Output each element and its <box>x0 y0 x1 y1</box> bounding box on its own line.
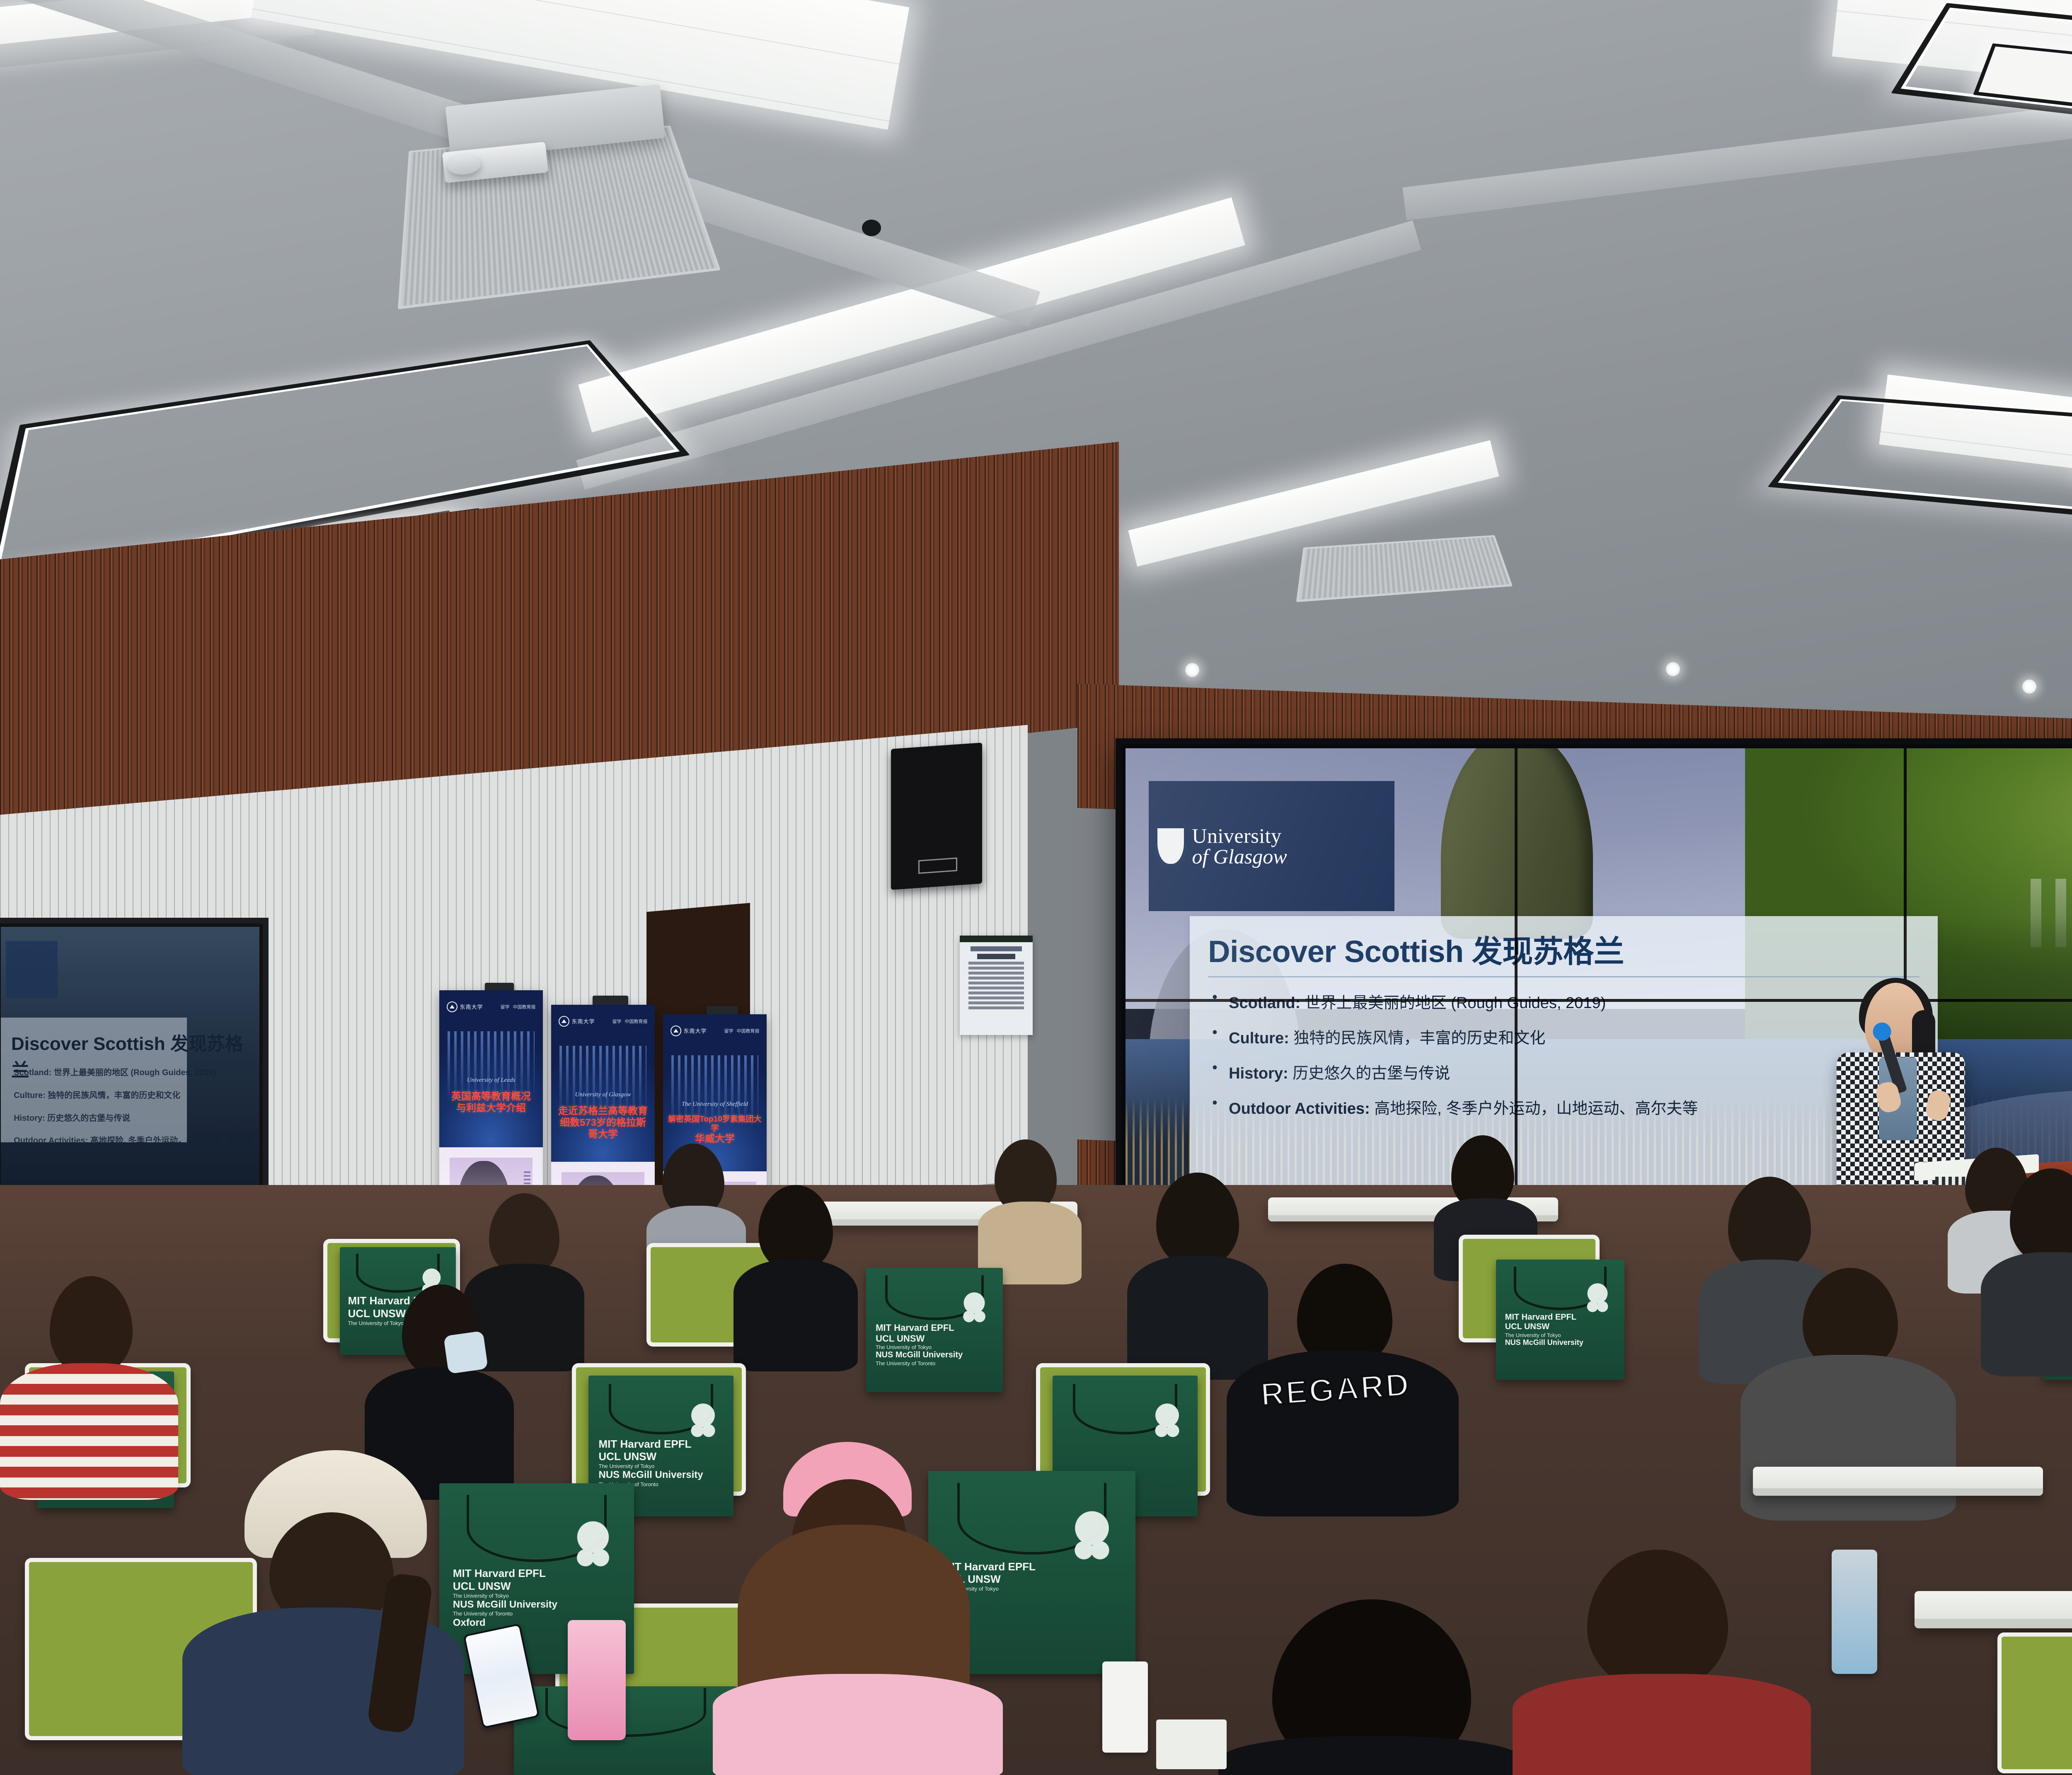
slide-title: Discover Scottish 发现苏格兰 <box>1208 927 1920 977</box>
tote-line: MIT Harvard EPFL <box>1505 1313 1583 1323</box>
water-bottle <box>568 1620 626 1740</box>
lecture-hall-photo: Discover Scottish 发现苏格兰 Scotland: 世界上最美丽… <box>0 0 2072 1775</box>
banner-partner: 中国教育报 <box>513 1004 536 1010</box>
tote-line: UCL UNSW <box>876 1333 963 1344</box>
university-mark-icon <box>559 1016 569 1027</box>
left-wall-monitor[interactable]: Discover Scottish 发现苏格兰 Scotland: 世界上最美丽… <box>0 918 269 1219</box>
slide-bullet-label: Outdoor Activities: <box>1229 1100 1370 1117</box>
tote-line: The University of Toronto <box>876 1360 963 1366</box>
banner-partner: 留学 <box>501 1004 510 1010</box>
banner-partner: 中国教育报 <box>625 1018 648 1025</box>
tote-line: The University of Tokyo <box>1505 1332 1583 1338</box>
study-abroad-tote-bag: MIT Harvard EPFL UCL UNSW The University… <box>866 1268 1003 1392</box>
wall-notice-board <box>960 936 1033 1035</box>
slide-bullet-list: Scotland: 世界上最美丽的地区 (Rough Guides, 2019)… <box>1208 990 1920 1118</box>
tote-line: UCL UNSW <box>599 1450 703 1463</box>
side-monitor-bullet: Scotland: 世界上最美丽的地区 (Rough Guides, 2019) <box>14 1066 216 1078</box>
study-abroad-tote-bag: MIT Harvard EPFL UCL UNSW The University… <box>1496 1260 1624 1380</box>
tote-line: NUS McGill University <box>1505 1338 1583 1347</box>
side-monitor-bullet: Culture: 独特的民族风情，丰富的历史和文化 <box>14 1088 180 1100</box>
banner-english-title: The University of Sheffield <box>663 1101 767 1108</box>
slide-bullet-item: History: 历史悠久的古堡与传说 <box>1208 1060 1920 1083</box>
lion-logo-icon <box>568 1518 618 1582</box>
banner-headline-1: 解密英国Top10罗素集团大学 <box>667 1115 762 1134</box>
slide-bullet-text: 历史悠久的古堡与传说 <box>1293 1065 1450 1082</box>
side-monitor-logo <box>6 941 58 998</box>
tote-line: The University of Tokyo <box>453 1593 557 1599</box>
banner-university: 东南大学 <box>684 1027 707 1035</box>
desk <box>1753 1467 2043 1496</box>
banner-partner: 留学 <box>724 1028 733 1034</box>
tissue-pack <box>1102 1661 1148 1753</box>
tote-line: MIT Harvard EPFL <box>876 1323 963 1333</box>
slide-bullet-label: Scotland: <box>1229 994 1300 1012</box>
audience-person <box>0 1276 178 1492</box>
tote-line: MIT Harvard EPFL <box>453 1567 557 1580</box>
tote-line: UCL UNSW <box>453 1580 557 1593</box>
slide-bullet-label: Culture: <box>1229 1030 1289 1047</box>
notice-board-heading <box>977 954 1015 959</box>
seating-area: MIT Harvard EPFL UCL UNSW The University… <box>0 1185 2072 1775</box>
water-bottle <box>1832 1550 1877 1674</box>
banner-headline-1: 英国高等教育概况 <box>443 1091 539 1103</box>
audience-person <box>182 1450 464 1773</box>
tote-line: NUS McGill University <box>599 1469 703 1481</box>
banner-partner: 中国教育报 <box>737 1028 760 1034</box>
banner-university: 东南大学 <box>572 1017 595 1025</box>
audience-person <box>688 1442 995 1773</box>
slide-bullet-label: History: <box>1229 1065 1288 1082</box>
lion-logo-icon <box>1581 1281 1615 1322</box>
banner-partner: 留学 <box>612 1018 622 1025</box>
slide-bullet-item: Outdoor Activities: 高地探险, 冬季户外运动，山地运动、高尔… <box>1208 1095 1920 1118</box>
wall-speaker <box>891 742 982 890</box>
audience-person <box>1513 1550 1811 1775</box>
audience-person <box>1218 1599 1525 1775</box>
banner-headline-2: 与利兹大学介绍 <box>443 1103 539 1114</box>
side-monitor-bullet: History: 历史悠久的古堡与传说 <box>14 1111 130 1123</box>
slide-bullet-text: 世界上最美丽的地区 (Rough Guides, 2019) <box>1305 994 1606 1012</box>
face-mask <box>443 1331 488 1374</box>
banner-headline-2: 细数573岁的格拉斯哥大学 <box>555 1117 651 1141</box>
lecture-chair[interactable] <box>1997 1632 2072 1773</box>
audience-person: REGARD <box>1227 1264 1459 1512</box>
audience-person <box>978 1139 1082 1276</box>
tote-line: NUS McGill University <box>453 1599 557 1611</box>
university-mark-icon <box>670 1025 681 1036</box>
tote-line: NUS McGill University <box>876 1350 963 1360</box>
tote-line: The University of Toronto <box>453 1611 557 1617</box>
university-of-glasgow-logo: University of Glasgow <box>1149 781 1394 912</box>
slide-bullet-text: 高地探险, 冬季户外运动，山地运动、高尔夫等 <box>1374 1100 1698 1117</box>
audience-person <box>733 1185 858 1359</box>
banner-english-title: University of Glasgow <box>551 1091 655 1098</box>
banner-university: 东南大学 <box>460 1003 483 1011</box>
lion-logo-icon <box>1148 1401 1186 1449</box>
side-monitor-bullet: Outdoor Activities: 高地探险, 冬季户外运动，山地运动、高尔… <box>14 1134 259 1158</box>
slide-bullet-item: Culture: 独特的民族风情，丰富的历史和文化 <box>1208 1025 1920 1048</box>
ceiling-camera <box>862 220 881 236</box>
slide-content-box: Discover Scottish 发现苏格兰 Scotland: 世界上最美丽… <box>1190 916 1938 1187</box>
banner-english-title: University of Leeds <box>439 1077 543 1084</box>
slide-bullet-text: 独特的民族风情，丰富的历史和文化 <box>1293 1030 1545 1047</box>
desk <box>1915 1591 2072 1628</box>
tote-line: MIT Harvard EPFL <box>599 1438 703 1451</box>
audience-person <box>1981 1168 2072 1363</box>
logo-line-2: of Glasgow <box>1192 846 1287 867</box>
tote-line: The University of Tokyo <box>599 1463 703 1469</box>
banner-headline-1: 走近苏格兰高等教育 <box>555 1105 651 1117</box>
desk-paper <box>1156 1719 1227 1769</box>
tote-line: UCL UNSW <box>1505 1322 1583 1332</box>
glasgow-crest-icon <box>1155 826 1186 866</box>
lion-logo-icon <box>1065 1507 1119 1577</box>
tote-line: The University of Tokyo <box>876 1344 963 1350</box>
logo-line-1: University <box>1192 825 1287 846</box>
university-mark-icon <box>447 1001 457 1012</box>
